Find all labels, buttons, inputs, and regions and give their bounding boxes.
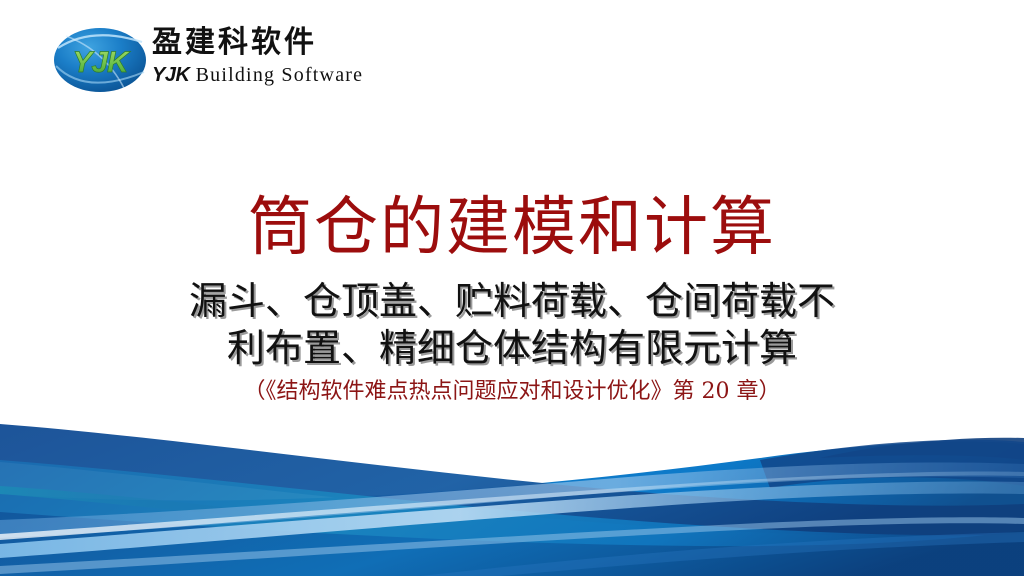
yjk-emblem-icon: YJK [52,26,148,94]
company-logo: YJK 盈建科软件 YJK Building Software [52,24,412,98]
decorative-wave-footer [0,416,1024,576]
company-name-en-abbr: YJK [152,64,189,86]
subtitle-line-2: 利布置、精细仓体结构有限元计算 [0,325,1024,372]
slide-subtitle: 漏斗、仓顶盖、贮料荷载、仓间荷载不 利布置、精细仓体结构有限元计算 [0,278,1024,372]
logo-wordmark: 盈建科软件 YJK Building Software [152,24,412,98]
subtitle-line-1: 漏斗、仓顶盖、贮料荷载、仓间荷载不 [0,278,1024,325]
company-name-en: YJK Building Software [152,63,412,87]
presentation-slide: YJK 盈建科软件 YJK Building Software 筒仓的建模和计算… [0,0,1024,576]
slide-title: 筒仓的建模和计算 [0,190,1024,266]
company-name-en-words: Building Software [189,64,363,86]
source-reference-note: （《结构软件难点热点问题应对和设计优化》第 20 章） [0,378,1024,406]
company-name-cn: 盈建科软件 [152,24,412,62]
title-area: 筒仓的建模和计算 漏斗、仓顶盖、贮料荷载、仓间荷载不 利布置、精细仓体结构有限元… [0,190,1024,406]
svg-text:YJK: YJK [72,46,131,79]
